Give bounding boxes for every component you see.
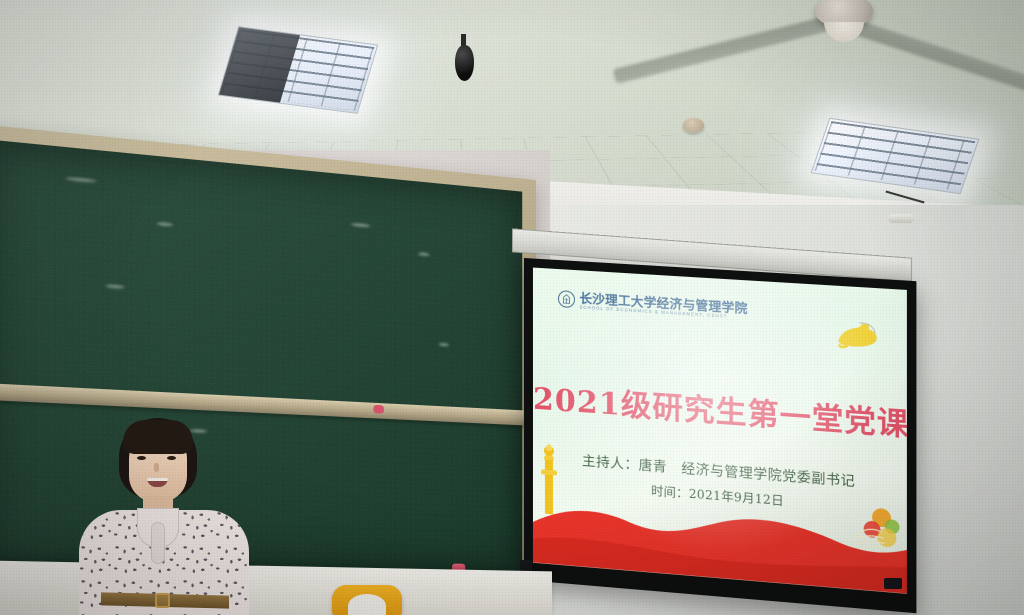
slide-title: 2021级研究生第一堂党课 — [533, 374, 907, 445]
classroom-photo: #ecfbee 长沙理工大学经济与管理学院 SCHOOL OF ECONOMIC… — [0, 0, 1024, 615]
slide-logo-text: 长沙理工大学经济与管理学院 SCHOOL OF ECONOMICS & MANA… — [580, 291, 748, 320]
orange-plastic-item — [332, 585, 402, 615]
projection-screen[interactable]: 长沙理工大学经济与管理学院 SCHOOL OF ECONOMICS & MANA… — [524, 258, 916, 613]
blackboard-magnet — [373, 405, 383, 414]
screen-bottom-bracket — [884, 578, 902, 589]
belt-buckle — [155, 593, 170, 608]
eye-left — [137, 456, 146, 460]
hair-front — [123, 420, 193, 454]
ceiling-speaker-icon — [455, 45, 474, 81]
nose — [154, 463, 159, 472]
female-presenter — [75, 418, 250, 615]
hammer-and-sickle-icon — [834, 319, 880, 355]
university-crest-icon — [558, 290, 575, 308]
projection-screen-surface: 长沙理工大学经济与管理学院 SCHOOL OF ECONOMICS & MANA… — [533, 268, 907, 594]
eyebrow-left — [136, 450, 147, 452]
eye-right — [167, 456, 176, 460]
neck-tie-drape — [151, 522, 165, 564]
slide-logo: 长沙理工大学经济与管理学院 SCHOOL OF ECONOMICS & MANA… — [558, 290, 747, 320]
smoke-detector-icon — [683, 118, 704, 132]
wall-conduit — [888, 214, 914, 223]
eyebrow-right — [166, 450, 177, 452]
